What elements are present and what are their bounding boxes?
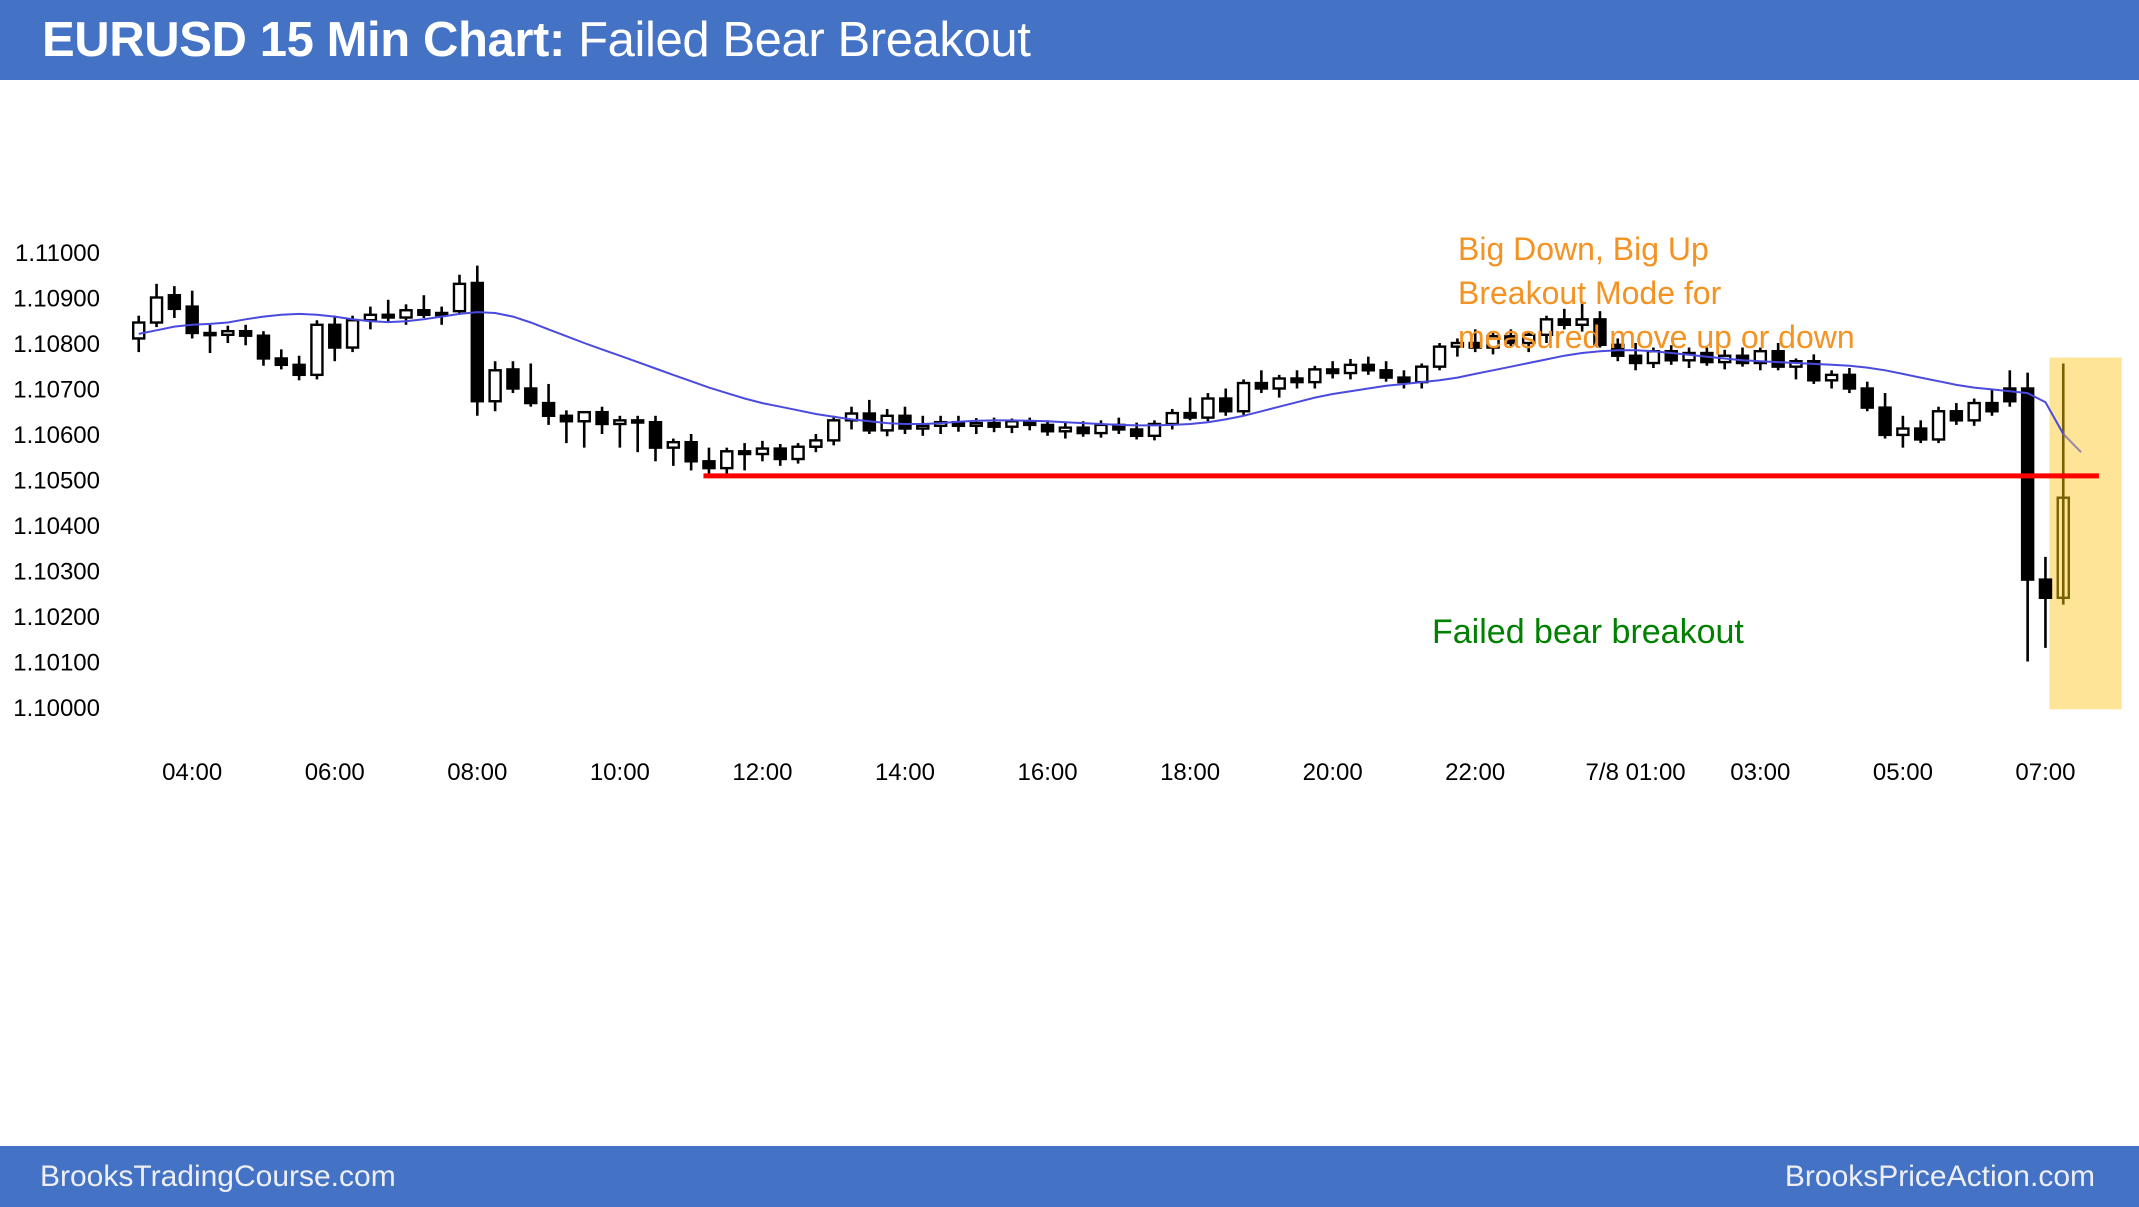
x-axis-tick-label: 06:00 xyxy=(305,759,365,786)
candle xyxy=(1844,368,1855,393)
candle xyxy=(365,307,376,330)
candle xyxy=(1042,420,1053,435)
x-axis-tick-label: 20:00 xyxy=(1303,759,1363,786)
candle xyxy=(472,266,483,416)
candle xyxy=(204,325,215,353)
candle xyxy=(151,284,162,327)
chart-page: EURUSD 15 Min Chart: Failed Bear Breakou… xyxy=(0,0,2139,1207)
y-axis-tick-label: 1.10100 xyxy=(13,650,100,677)
candle xyxy=(739,443,750,470)
candle xyxy=(1167,409,1178,429)
y-axis-tick-label: 1.10400 xyxy=(13,513,100,540)
annotation-orange-line1: Big Down, Big Up xyxy=(1458,231,1709,267)
candle xyxy=(1790,358,1801,379)
candle xyxy=(1149,420,1160,440)
candle xyxy=(276,349,287,369)
candle xyxy=(721,448,732,476)
candle xyxy=(1256,370,1267,393)
footer-left-link[interactable]: BrooksTradingCourse.com xyxy=(40,1146,396,1207)
candle xyxy=(561,410,572,443)
footer-right-link[interactable]: BrooksPriceAction.com xyxy=(1785,1146,2095,1207)
candle xyxy=(2022,373,2033,662)
candle xyxy=(828,416,839,446)
candle xyxy=(507,361,518,393)
y-axis-tick-label: 1.10900 xyxy=(13,286,100,313)
candle xyxy=(935,416,946,434)
candle xyxy=(1986,389,1997,416)
candle xyxy=(1880,393,1891,439)
x-axis-tick-label: 07:00 xyxy=(2015,759,2075,786)
y-axis-tick-label: 1.10200 xyxy=(13,604,100,631)
x-axis-tick-label: 05:00 xyxy=(1873,759,1933,786)
candle xyxy=(775,444,786,466)
candle xyxy=(490,361,501,411)
candle xyxy=(1969,399,1980,426)
candle xyxy=(543,384,554,425)
candle xyxy=(597,407,608,434)
candle xyxy=(899,407,910,434)
candle xyxy=(1238,379,1249,414)
candle xyxy=(1024,418,1035,431)
candle xyxy=(668,439,679,466)
candle xyxy=(383,300,394,323)
candle xyxy=(864,400,875,434)
candle xyxy=(222,326,233,343)
y-axis-tick-label: 1.10600 xyxy=(13,422,100,449)
candle xyxy=(1309,366,1320,389)
candle xyxy=(703,448,714,475)
page-title: EURUSD 15 Min Chart: Failed Bear Breakou… xyxy=(42,16,1030,65)
candle xyxy=(1060,422,1071,438)
x-axis-tick-label: 10:00 xyxy=(590,759,650,786)
title-bar: EURUSD 15 Min Chart: Failed Bear Breakou… xyxy=(0,0,2139,80)
x-axis-tick-label: 18:00 xyxy=(1160,759,1220,786)
y-axis-tick-label: 1.10700 xyxy=(13,377,100,404)
page-title-light: Failed Bear Breakout xyxy=(578,13,1030,67)
candle xyxy=(187,291,198,339)
candle xyxy=(2004,370,2015,406)
candle xyxy=(1416,363,1427,388)
page-title-strong: EURUSD 15 Min Chart: xyxy=(42,13,565,67)
y-axis-tick-label: 1.10500 xyxy=(13,468,100,495)
candle xyxy=(650,416,661,462)
annotation-orange-line2: Breakout Mode for xyxy=(1458,275,1722,311)
candle xyxy=(1291,370,1302,388)
candle xyxy=(1933,407,1944,443)
candle xyxy=(329,316,340,362)
x-axis-tick-label: 22:00 xyxy=(1445,759,1505,786)
breakout-highlight-rect xyxy=(2049,358,2121,710)
candle xyxy=(1897,416,1908,448)
candle xyxy=(757,441,768,461)
candle xyxy=(418,295,429,318)
candle xyxy=(917,416,928,436)
candle xyxy=(1220,389,1231,416)
candle xyxy=(1363,357,1374,375)
candle xyxy=(294,356,305,381)
candle xyxy=(686,434,697,470)
candlestick-chart: 1.110001.109001.108001.107001.106001.105… xyxy=(0,80,2139,1146)
candle xyxy=(793,443,804,463)
candle xyxy=(1327,361,1338,378)
annotation-green-label: Failed bear breakout xyxy=(1432,613,1744,651)
x-axis-tick-label: 12:00 xyxy=(732,759,792,786)
candle xyxy=(1185,398,1196,421)
candle xyxy=(1274,375,1285,398)
candle xyxy=(1434,343,1445,370)
y-axis-tick-label: 1.11000 xyxy=(15,240,100,267)
annotation-orange-line3: measured move up or down xyxy=(1458,319,1855,355)
x-axis-labels: 04:0006:0008:0010:0012:0014:0016:0018:00… xyxy=(162,759,2075,786)
x-axis-tick-label: 03:00 xyxy=(1730,759,1790,786)
candle xyxy=(632,416,643,452)
annotation-breakout-mode: Big Down, Big Up Breakout Mode for measu… xyxy=(1458,231,1855,355)
candle xyxy=(1202,393,1213,421)
candle xyxy=(1345,359,1356,379)
y-axis-labels: 1.110001.109001.108001.107001.106001.105… xyxy=(13,240,100,722)
candle xyxy=(454,275,465,315)
candle xyxy=(810,434,821,452)
x-axis-tick-label: 7/8 01:00 xyxy=(1586,759,1686,786)
x-axis-tick-label: 08:00 xyxy=(447,759,507,786)
candle xyxy=(1951,403,1962,425)
candle xyxy=(579,411,590,447)
x-axis-tick-label: 04:00 xyxy=(162,759,222,786)
candle xyxy=(311,320,322,379)
candle xyxy=(169,286,180,318)
x-axis-tick-label: 16:00 xyxy=(1018,759,1078,786)
candle xyxy=(1826,370,1837,388)
candle xyxy=(347,316,358,352)
y-axis-tick-label: 1.10300 xyxy=(13,559,100,586)
candle xyxy=(953,416,964,432)
candle xyxy=(258,331,269,366)
candle xyxy=(1915,420,1926,443)
highlight-box-layer xyxy=(2049,358,2121,710)
candle xyxy=(240,325,251,345)
y-axis-tick-label: 1.10800 xyxy=(13,331,100,358)
candle xyxy=(1862,382,1873,412)
annotation-failed-bear-breakout: Failed bear breakout xyxy=(1432,613,1744,651)
candle xyxy=(1398,370,1409,388)
candle xyxy=(614,416,625,448)
candle xyxy=(1381,361,1392,381)
footer-bar: BrooksTradingCourse.com BrooksPriceActio… xyxy=(0,1146,2139,1207)
candle xyxy=(525,363,536,406)
x-axis-tick-label: 14:00 xyxy=(875,759,935,786)
candle xyxy=(1808,354,1819,384)
candle xyxy=(2040,557,2051,648)
y-axis-tick-label: 1.10000 xyxy=(13,695,100,722)
